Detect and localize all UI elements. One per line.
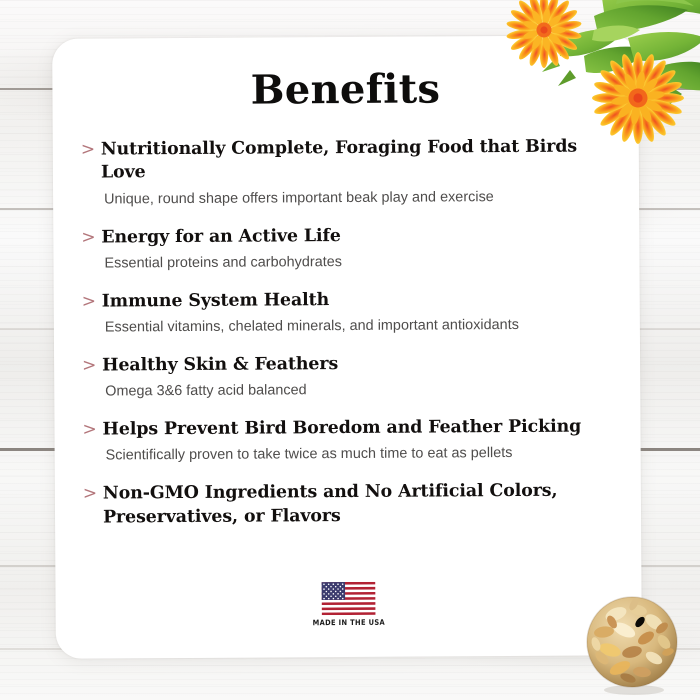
benefit-heading: Non-GMO Ingredients and No Artificial Co…	[103, 480, 615, 530]
chevron-right-icon: >	[82, 355, 102, 376]
chevron-right-icon: >	[82, 420, 102, 441]
benefit-heading: Helps Prevent Bird Boredom and Feather P…	[102, 415, 614, 441]
made-in-usa-badge: MADE IN THE USA	[55, 580, 641, 629]
product-benefits-graphic: Benefits > Nutritionally Complete, Forag…	[0, 0, 700, 700]
list-item: > Immune System Health Essential vitamin…	[82, 287, 614, 338]
benefit-heading: Energy for an Active Life	[101, 223, 613, 249]
benefit-heading: Healthy Skin & Feathers	[102, 351, 614, 377]
chevron-right-icon: >	[82, 291, 102, 312]
benefit-subtext: Scientifically proven to take twice as m…	[106, 443, 615, 467]
benefit-subtext: Essential vitamins, chelated minerals, a…	[105, 314, 614, 338]
benefit-subtext: Omega 3&6 fatty acid balanced	[105, 379, 614, 403]
chevron-right-icon: >	[83, 484, 103, 505]
benefit-heading: Immune System Health	[102, 287, 614, 313]
list-item: > Non-GMO Ingredients and No Artificial …	[83, 480, 615, 530]
benefits-card: Benefits > Nutritionally Complete, Forag…	[52, 35, 642, 659]
benefit-heading: Nutritionally Complete, Foraging Food th…	[101, 135, 613, 185]
list-item: > Energy for an Active Life Essential pr…	[81, 223, 613, 274]
list-item: > Nutritionally Complete, Foraging Food …	[81, 135, 613, 210]
chevron-right-icon: >	[81, 140, 101, 161]
usa-flag-icon	[321, 582, 375, 615]
made-in-usa-label: MADE IN THE USA	[312, 618, 384, 627]
page-title: Benefits	[52, 68, 638, 112]
list-item: > Helps Prevent Bird Boredom and Feather…	[82, 415, 614, 466]
list-item: > Healthy Skin & Feathers Omega 3&6 fatt…	[82, 351, 614, 402]
benefit-subtext: Unique, round shape offers important bea…	[104, 186, 613, 210]
benefits-list: > Nutritionally Complete, Foraging Food …	[53, 135, 641, 529]
benefit-subtext: Essential proteins and carbohydrates	[104, 250, 613, 274]
chevron-right-icon: >	[81, 227, 101, 248]
